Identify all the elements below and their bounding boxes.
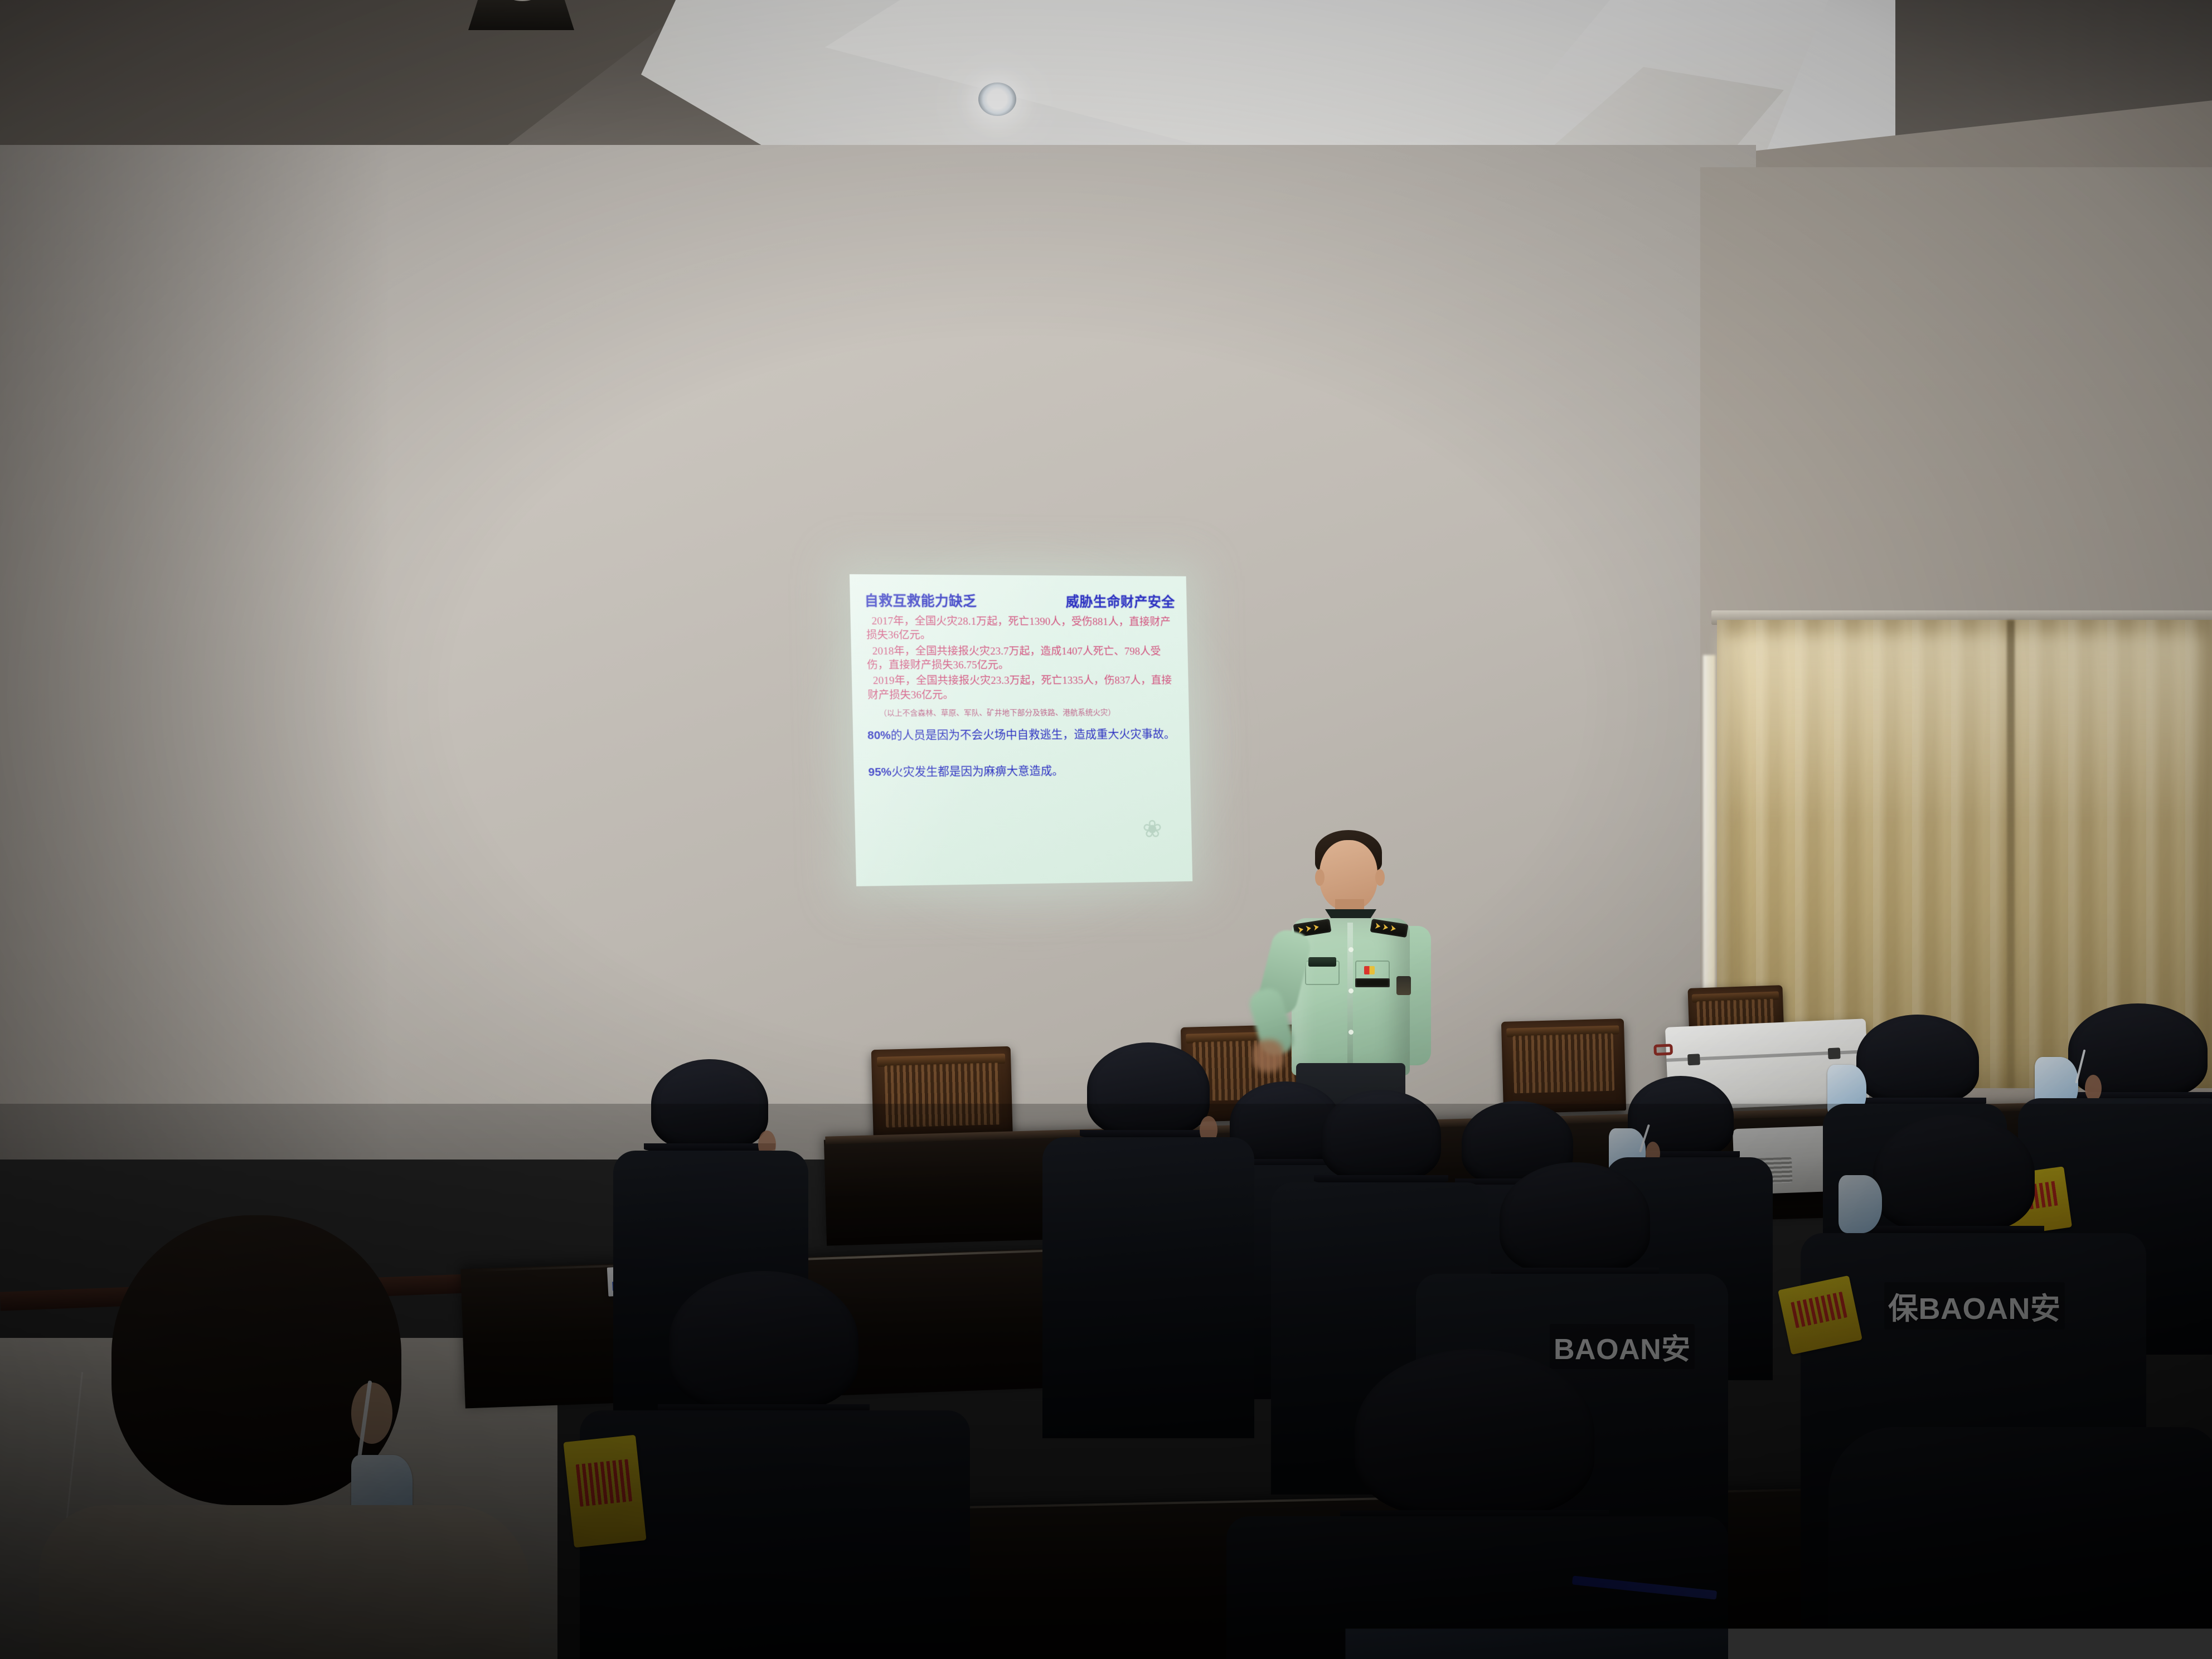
attendee-cap (1873, 1115, 2035, 1232)
presenter-ear-left (1315, 869, 1325, 886)
presenter-shirt-button (1348, 1030, 1354, 1035)
presenter-name-tag (1355, 978, 1390, 987)
foreground-attendee-shirt (39, 1505, 530, 1659)
attendee-uniform (1042, 1137, 1254, 1438)
presenter-sleeve-patch (1396, 976, 1411, 995)
wall-shadow (0, 145, 390, 1160)
slide-title-right: 威胁生命财产安全 (1065, 591, 1175, 611)
foreground-attendee (580, 1271, 970, 1659)
slide-title: 自救互救能力缺乏 威胁生命财产安全 (864, 590, 1175, 611)
foreground-attendee (1828, 1427, 2212, 1659)
curtain-daylight-glow (1723, 636, 2202, 819)
slide-highlight-95: 95%火灾发生都是因为麻痹大意造成。 (868, 763, 1180, 780)
foreground-attendee-ear (351, 1382, 392, 1444)
presenter (1257, 811, 1441, 1123)
attendee-jacket-label: 保BAOAN安 (1884, 1282, 2065, 1330)
attendee-cap (651, 1059, 768, 1149)
window-light-gap (1703, 655, 1715, 1045)
projected-slide: 自救互救能力缺乏 威胁生命财产安全 2017年，全国火灾28.1万起，死亡139… (850, 574, 1192, 886)
slide-highlight-95-text: 火灾发生都是因为麻痹大意造成。 (891, 764, 1064, 779)
presenter-chest-insignia (1308, 957, 1336, 967)
presenter-shirt-placket (1347, 923, 1353, 1072)
attendee-uniform (1828, 1427, 2212, 1659)
presenter-shirt-button (1348, 988, 1354, 993)
slide-highlight-95-percent: 95% (868, 766, 891, 779)
slide-watermark-icon: ❀ (1142, 818, 1183, 868)
downlight-icon (978, 83, 1016, 116)
ceiling-speaker-icon (468, 0, 574, 30)
attendee-cap (1087, 1042, 1210, 1136)
foreground-attendee (61, 1215, 496, 1659)
attendee (1048, 1042, 1249, 1433)
slide-stat-2018: 2018年，全国共接报火灾23.7万起，造成1407人死亡、798人受伤，直接财… (867, 644, 1178, 673)
slide-footnote: （以上不含森林、草原、军队、矿井地下部分及铁路、港航系统火灾） (879, 708, 1178, 719)
slide-stat-2019: 2019年，全国共接报火灾23.3万起，死亡1335人，伤837人，直接财产损失… (867, 674, 1178, 702)
curtain-seam (2007, 620, 2015, 1088)
slide-highlight-80-percent: 80% (867, 729, 891, 742)
slide-stat-2017: 2017年，全国火灾28.1万起，死亡1390人，受伤881人，直接财产损失36… (866, 614, 1177, 643)
attendee-cap (1500, 1162, 1650, 1274)
meeting-room-photo: 自救互救能力缺乏 威胁生命财产安全 2017年，全国火灾28.1万起，死亡139… (0, 0, 2212, 1659)
attendee-ear (2085, 1075, 2102, 1102)
attendee-face-mask (1839, 1175, 1882, 1233)
presenter-hand-left (1253, 1040, 1284, 1072)
slide-highlight-80-text: 的人员是因为不会火场中自救逃生，造成重大火灾事故。 (891, 727, 1176, 742)
slide-title-left: 自救互救能力缺乏 (864, 590, 977, 610)
presenter-flag-badge (1364, 966, 1375, 974)
attendee-cap (1355, 1349, 1594, 1516)
foreground-attendee (1226, 1349, 1728, 1659)
attendee-cap (669, 1271, 858, 1410)
slide-highlight-80: 80%的人员是因为不会火场中自救逃生，造成重大火灾事故。 (867, 727, 1179, 744)
attendee-armband (563, 1435, 646, 1548)
presenter-ear-right (1375, 869, 1385, 886)
attendee-cap (1856, 1015, 1979, 1104)
presenter-shirt-button (1348, 947, 1354, 952)
